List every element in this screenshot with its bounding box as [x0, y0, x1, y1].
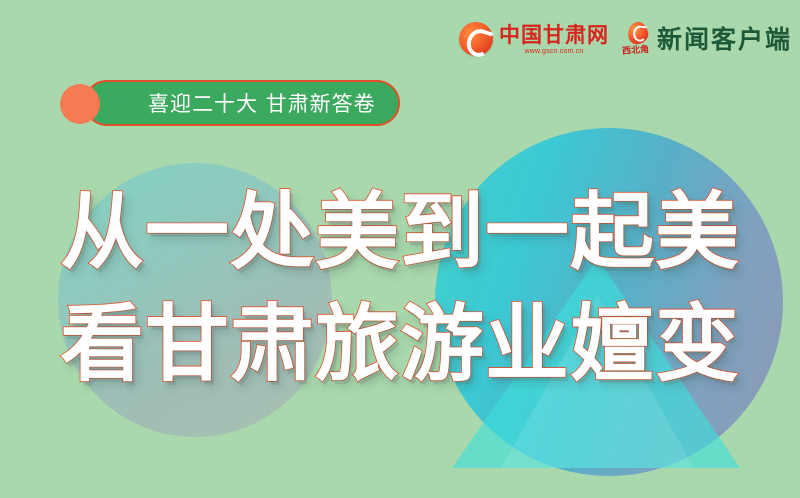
campaign-badge-pill[interactable]: 喜迎二十大 甘肃新答卷 — [84, 80, 400, 126]
xibeijiao-logo[interactable]: 西北角 新闻客户端 — [625, 22, 792, 56]
campaign-badge-label: 喜迎二十大 甘肃新答卷 — [148, 88, 376, 118]
gscn-flame-icon — [459, 22, 493, 56]
logo-bar: 中国甘肃网 www.gscn.com.cn 西北角 新闻客户端 — [459, 22, 792, 56]
gscn-logo[interactable]: 中国甘肃网 www.gscn.com.cn — [459, 22, 609, 56]
xibeijiao-seal-text: 西北角 — [622, 42, 650, 57]
poster-canvas: 中国甘肃网 www.gscn.com.cn 西北角 新闻客户端 喜迎二十大 甘肃… — [0, 0, 800, 498]
gscn-site-name: 中国甘肃网 — [499, 24, 609, 45]
campaign-badge-dot-icon — [60, 84, 100, 124]
gscn-site-url: www.gscn.com.cn — [524, 48, 583, 55]
xibeijiao-drop-icon: 西北角 — [625, 22, 651, 56]
gscn-wordmark: 中国甘肃网 www.gscn.com.cn — [499, 24, 609, 55]
headline-line-2: 看甘肃旅游业嬗变 — [0, 288, 800, 400]
headline-block: 从一处美到一起美 看甘肃旅游业嬗变 — [0, 176, 800, 400]
news-client-label: 新闻客户端 — [657, 27, 792, 52]
headline-line-1: 从一处美到一起美 — [0, 176, 800, 288]
